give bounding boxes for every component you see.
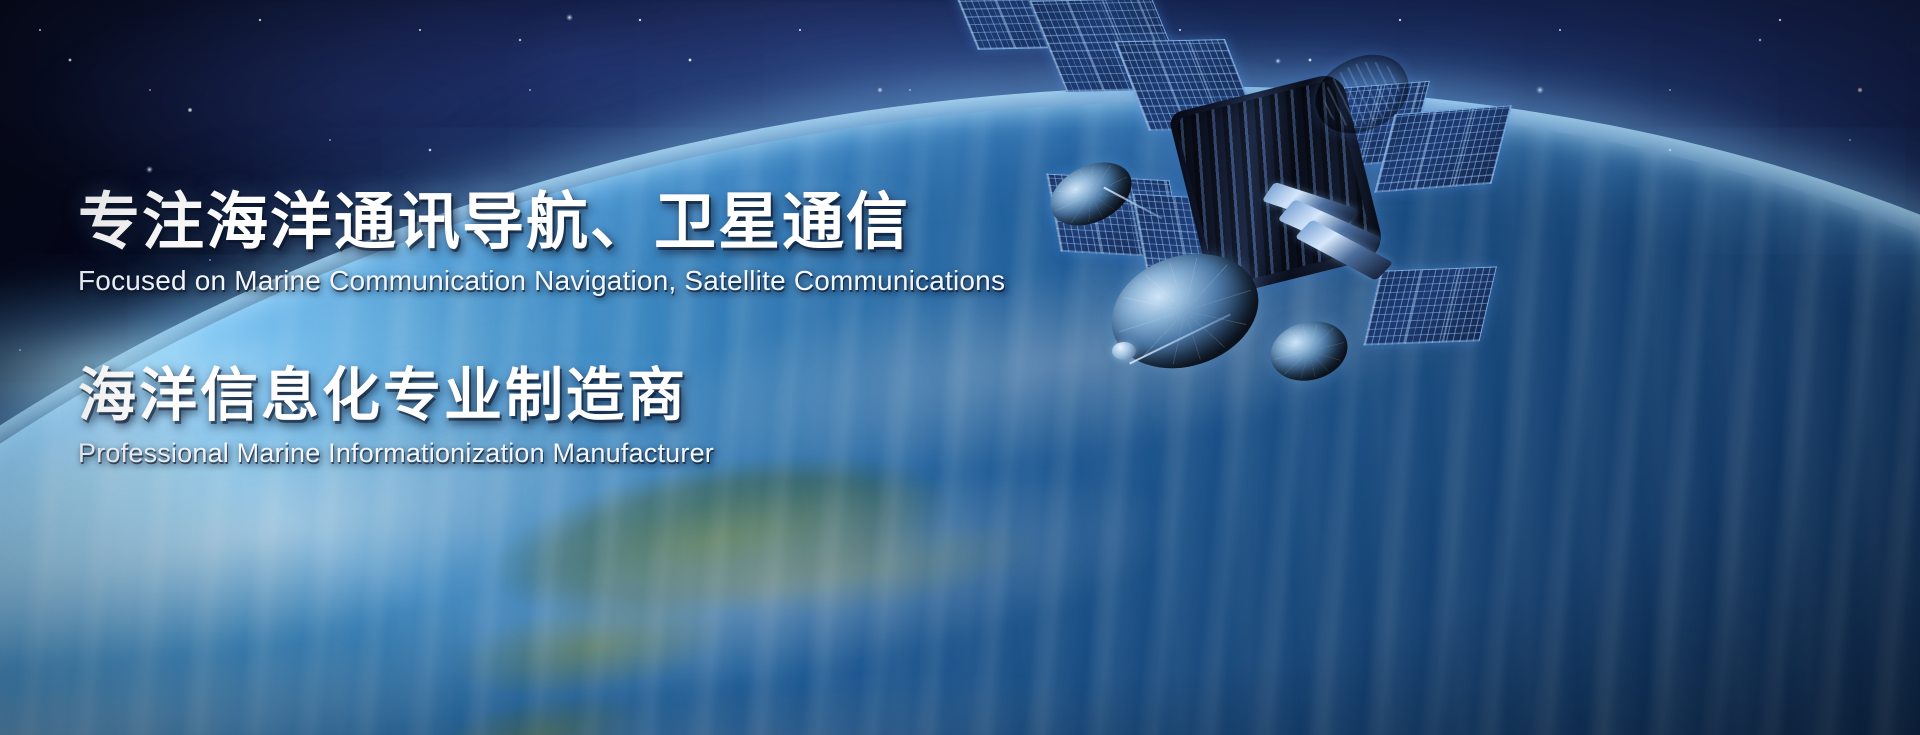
headline-en-secondary: Professional Marine Informationization M…: [78, 434, 1178, 472]
headline-cn-primary: 专注海洋通讯导航、卫星通信: [78, 186, 1178, 260]
headline-copy: 专注海洋通讯导航、卫星通信 Focused on Marine Communic…: [78, 186, 1178, 472]
headline-block-primary: 专注海洋通讯导航、卫星通信 Focused on Marine Communic…: [78, 186, 1178, 300]
solar-panel: [1363, 266, 1497, 345]
headline-block-secondary: 海洋信息化专业制造商 Professional Marine Informati…: [78, 360, 1178, 472]
headline-cn-secondary: 海洋信息化专业制造商: [78, 360, 1178, 432]
hero-banner: 专注海洋通讯导航、卫星通信 Focused on Marine Communic…: [0, 0, 1920, 735]
solar-panel: [1374, 105, 1512, 193]
headline-en-primary: Focused on Marine Communication Navigati…: [78, 262, 1178, 300]
